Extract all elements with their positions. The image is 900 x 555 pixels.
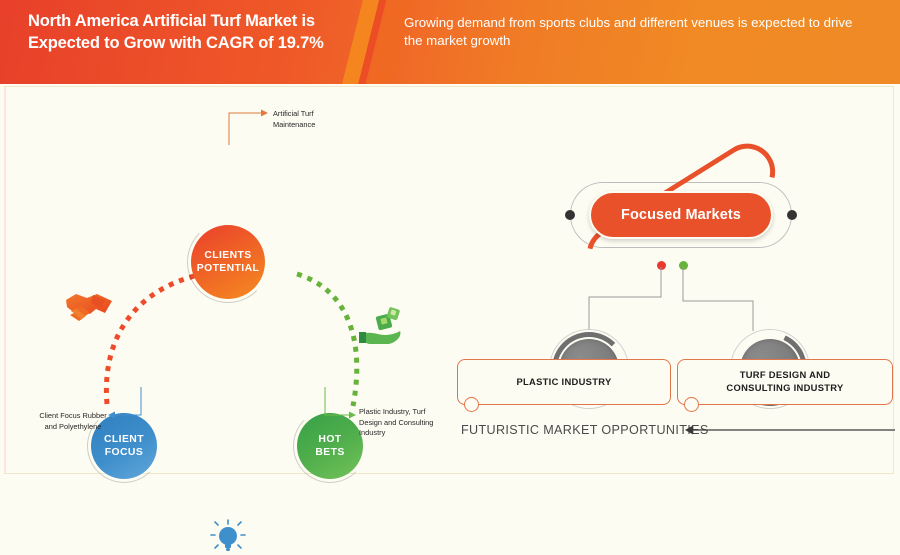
handshake-icon (63, 283, 115, 329)
opportunity-label: PLASTIC INDUSTRY (516, 376, 611, 389)
anchor-dot-right (787, 210, 797, 220)
annotation-hot-bets: Plastic Industry, Turf Design and Consul… (359, 407, 449, 439)
bubble-label: HOT BETS (315, 433, 344, 459)
opportunity-knob-turf-design (684, 397, 699, 412)
bubble-label: CLIENTS POTENTIAL (197, 249, 259, 275)
bubble-label-line2: POTENTIAL (197, 263, 259, 274)
infographic-root: North America Artificial Turf Market is … (0, 0, 900, 478)
annotation-client-focus: Client Focus Rubber and Polyethylene (38, 411, 108, 432)
opportunity-knob-plastic-industry (464, 397, 479, 412)
diagram-canvas: CLIENTS POTENTIAL CLIENT FOCUS HOT BETS (4, 86, 894, 474)
header-banner: North America Artificial Turf Market is … (0, 0, 900, 84)
opportunity-label-line2: CONSULTING INDUSTRY (726, 382, 843, 393)
connector-client-focus (101, 387, 161, 427)
opportunities-arrow (681, 423, 897, 439)
bubble-label-line1: CLIENTS (204, 250, 251, 261)
bubble-label-line2: BETS (315, 447, 344, 458)
opportunity-label-line1: TURF DESIGN AND (740, 369, 831, 380)
opportunities-heading: FUTURISTIC MARKET OPPORTUNITIES (461, 423, 709, 437)
bubble-label-line2: FOCUS (105, 447, 143, 458)
hand-money-icon (357, 305, 403, 349)
focused-markets-button[interactable]: Focused Markets (589, 191, 773, 239)
tree-connectors (585, 265, 765, 335)
annotation-artificial-turf-maintenance: Artificial Turf Maintenance (273, 109, 343, 130)
bubble-label-line1: CLIENT (104, 434, 144, 445)
connector-clients-potential (217, 107, 277, 147)
bubble-label: CLIENT FOCUS (104, 433, 144, 459)
bubble-label-line1: HOT (318, 434, 341, 445)
page-title: North America Artificial Turf Market is … (28, 11, 358, 55)
dotted-arc-bottom (153, 399, 293, 459)
dotted-arc-right (287, 182, 367, 412)
bubble-clients-potential[interactable]: CLIENTS POTENTIAL (191, 225, 265, 299)
focused-markets-group: Focused Markets (571, 183, 791, 251)
page-subtitle: Growing demand from sports clubs and dif… (404, 14, 874, 51)
anchor-dot-left (565, 210, 575, 220)
lightbulb-icon (210, 519, 246, 555)
opportunity-box-turf-design[interactable]: TURF DESIGN AND CONSULTING INDUSTRY (677, 359, 893, 405)
opportunity-box-plastic-industry[interactable]: PLASTIC INDUSTRY (457, 359, 671, 405)
